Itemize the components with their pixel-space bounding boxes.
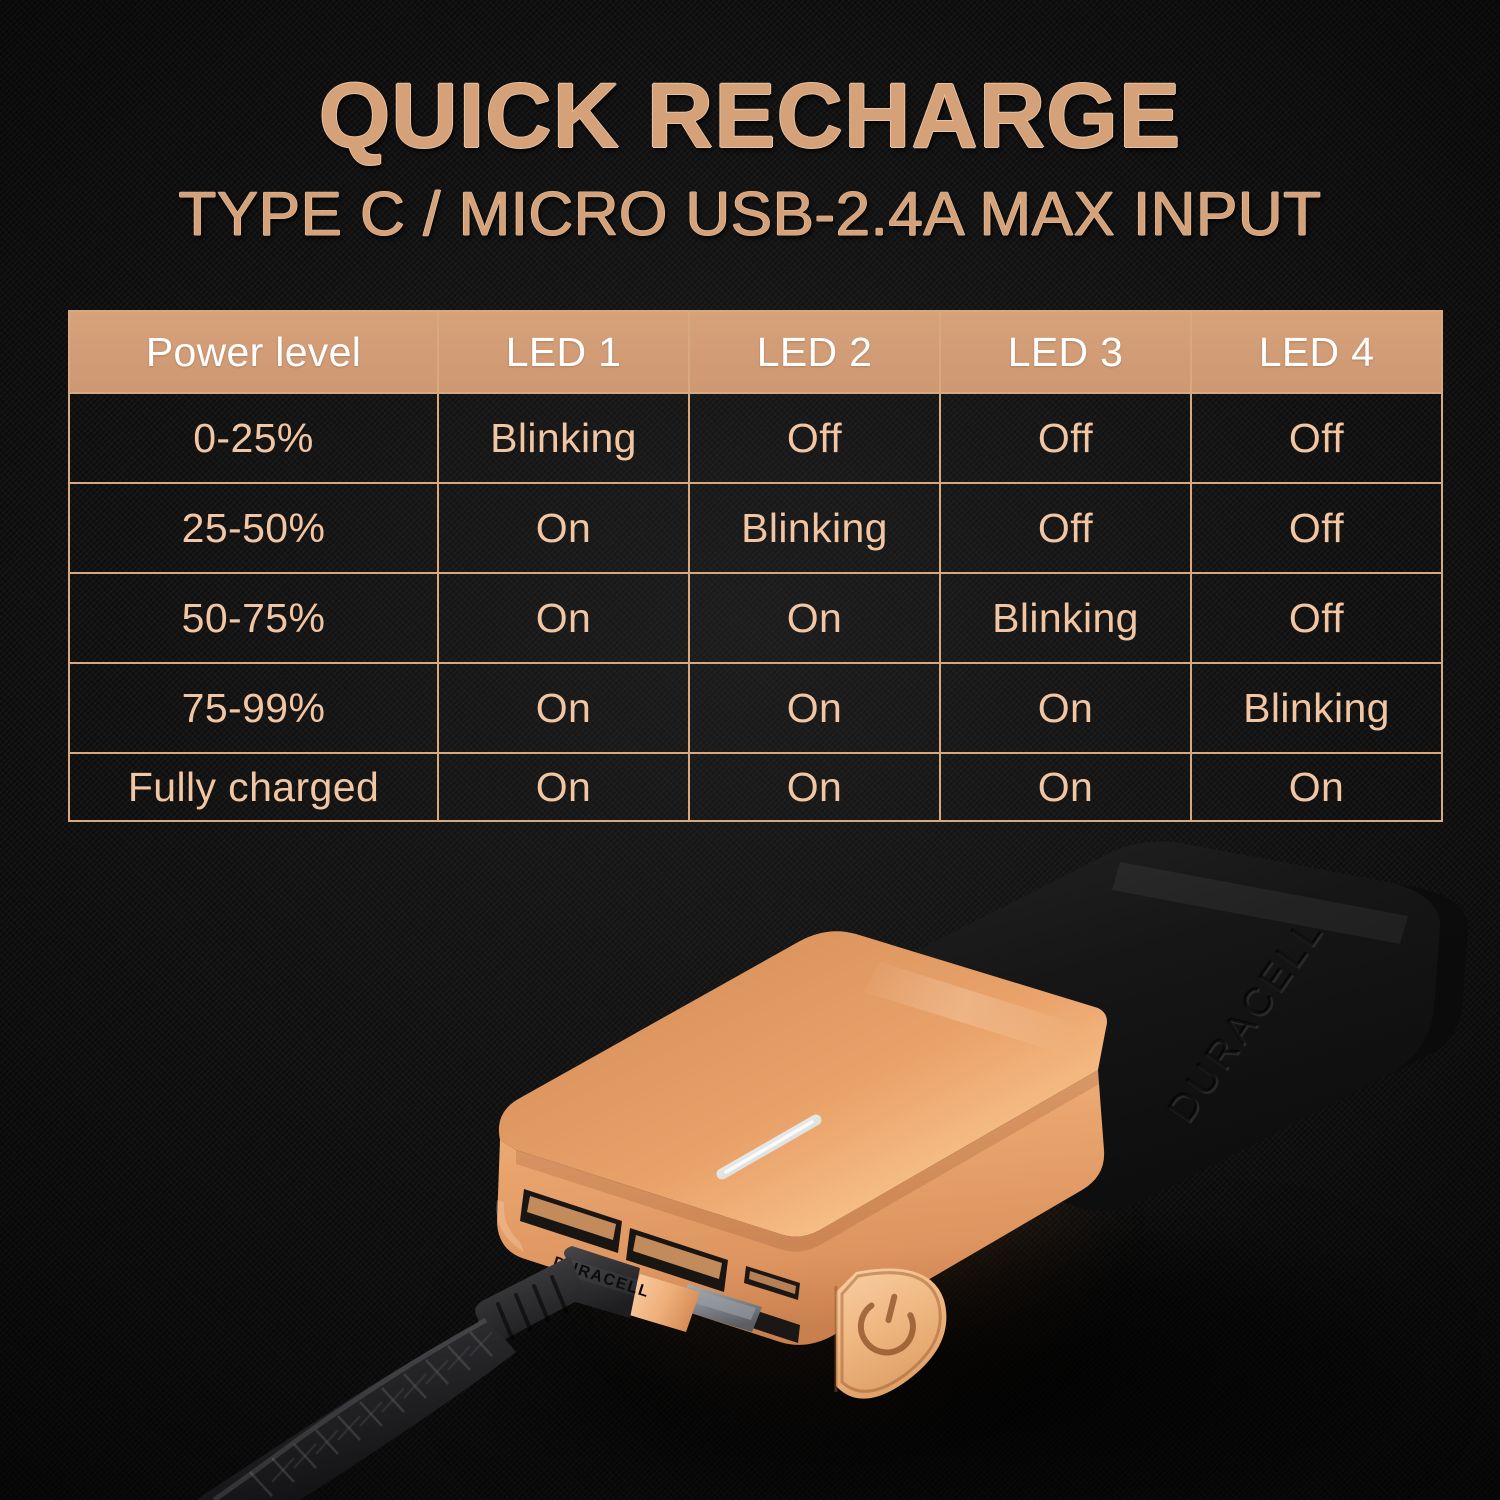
- page-subtitle: TYPE C / MICRO USB-2.4A MAX INPUT: [0, 182, 1500, 247]
- table-body: 0-25% Blinking Off Off Off 25-50% On Bli…: [69, 393, 1442, 821]
- table-row: 75-99% On On On Blinking: [69, 663, 1442, 753]
- table-header-row: Power level LED 1 LED 2 LED 3 LED 4: [69, 311, 1442, 393]
- table-header: Power level LED 1 LED 2 LED 3 LED 4: [69, 311, 1442, 393]
- infographic-canvas: QUICK RECHARGE TYPE C / MICRO USB-2.4A M…: [0, 0, 1500, 1500]
- page-title: QUICK RECHARGE: [0, 70, 1500, 164]
- cell-led-2: On: [689, 753, 940, 821]
- cell-power-level: 50-75%: [69, 573, 438, 663]
- cell-led-3: Off: [940, 483, 1191, 573]
- product-drop-shadow: [470, 1230, 1430, 1500]
- column-header-led-1: LED 1: [438, 311, 689, 393]
- cell-power-level: 25-50%: [69, 483, 438, 573]
- cell-led-3: On: [940, 663, 1191, 753]
- cell-led-2: On: [689, 663, 940, 753]
- cell-led-3: Blinking: [940, 573, 1191, 663]
- cell-led-1: On: [438, 573, 689, 663]
- column-header-power-level: Power level: [69, 311, 438, 393]
- cell-led-1: Blinking: [438, 393, 689, 483]
- cell-led-3: Off: [940, 393, 1191, 483]
- cell-led-4: Off: [1191, 483, 1442, 573]
- cell-led-4: Off: [1191, 573, 1442, 663]
- cell-power-level: Fully charged: [69, 753, 438, 821]
- led-status-table: Power level LED 1 LED 2 LED 3 LED 4 0-25…: [68, 310, 1443, 822]
- cell-led-1: On: [438, 663, 689, 753]
- cell-led-2: Blinking: [689, 483, 940, 573]
- cell-led-4: On: [1191, 753, 1442, 821]
- column-header-led-4: LED 4: [1191, 311, 1442, 393]
- table-row: Fully charged On On On On: [69, 753, 1442, 821]
- cell-led-3: On: [940, 753, 1191, 821]
- table-row: 0-25% Blinking Off Off Off: [69, 393, 1442, 483]
- cell-led-4: Off: [1191, 393, 1442, 483]
- cell-power-level: 75-99%: [69, 663, 438, 753]
- cell-led-2: Off: [689, 393, 940, 483]
- column-header-led-3: LED 3: [940, 311, 1191, 393]
- cell-led-4: Blinking: [1191, 663, 1442, 753]
- table-row: 25-50% On Blinking Off Off: [69, 483, 1442, 573]
- table-row: 50-75% On On Blinking Off: [69, 573, 1442, 663]
- cell-led-2: On: [689, 573, 940, 663]
- heading-block: QUICK RECHARGE TYPE C / MICRO USB-2.4A M…: [0, 70, 1500, 247]
- cell-led-1: On: [438, 753, 689, 821]
- column-header-led-2: LED 2: [689, 311, 940, 393]
- cell-led-1: On: [438, 483, 689, 573]
- cell-power-level: 0-25%: [69, 393, 438, 483]
